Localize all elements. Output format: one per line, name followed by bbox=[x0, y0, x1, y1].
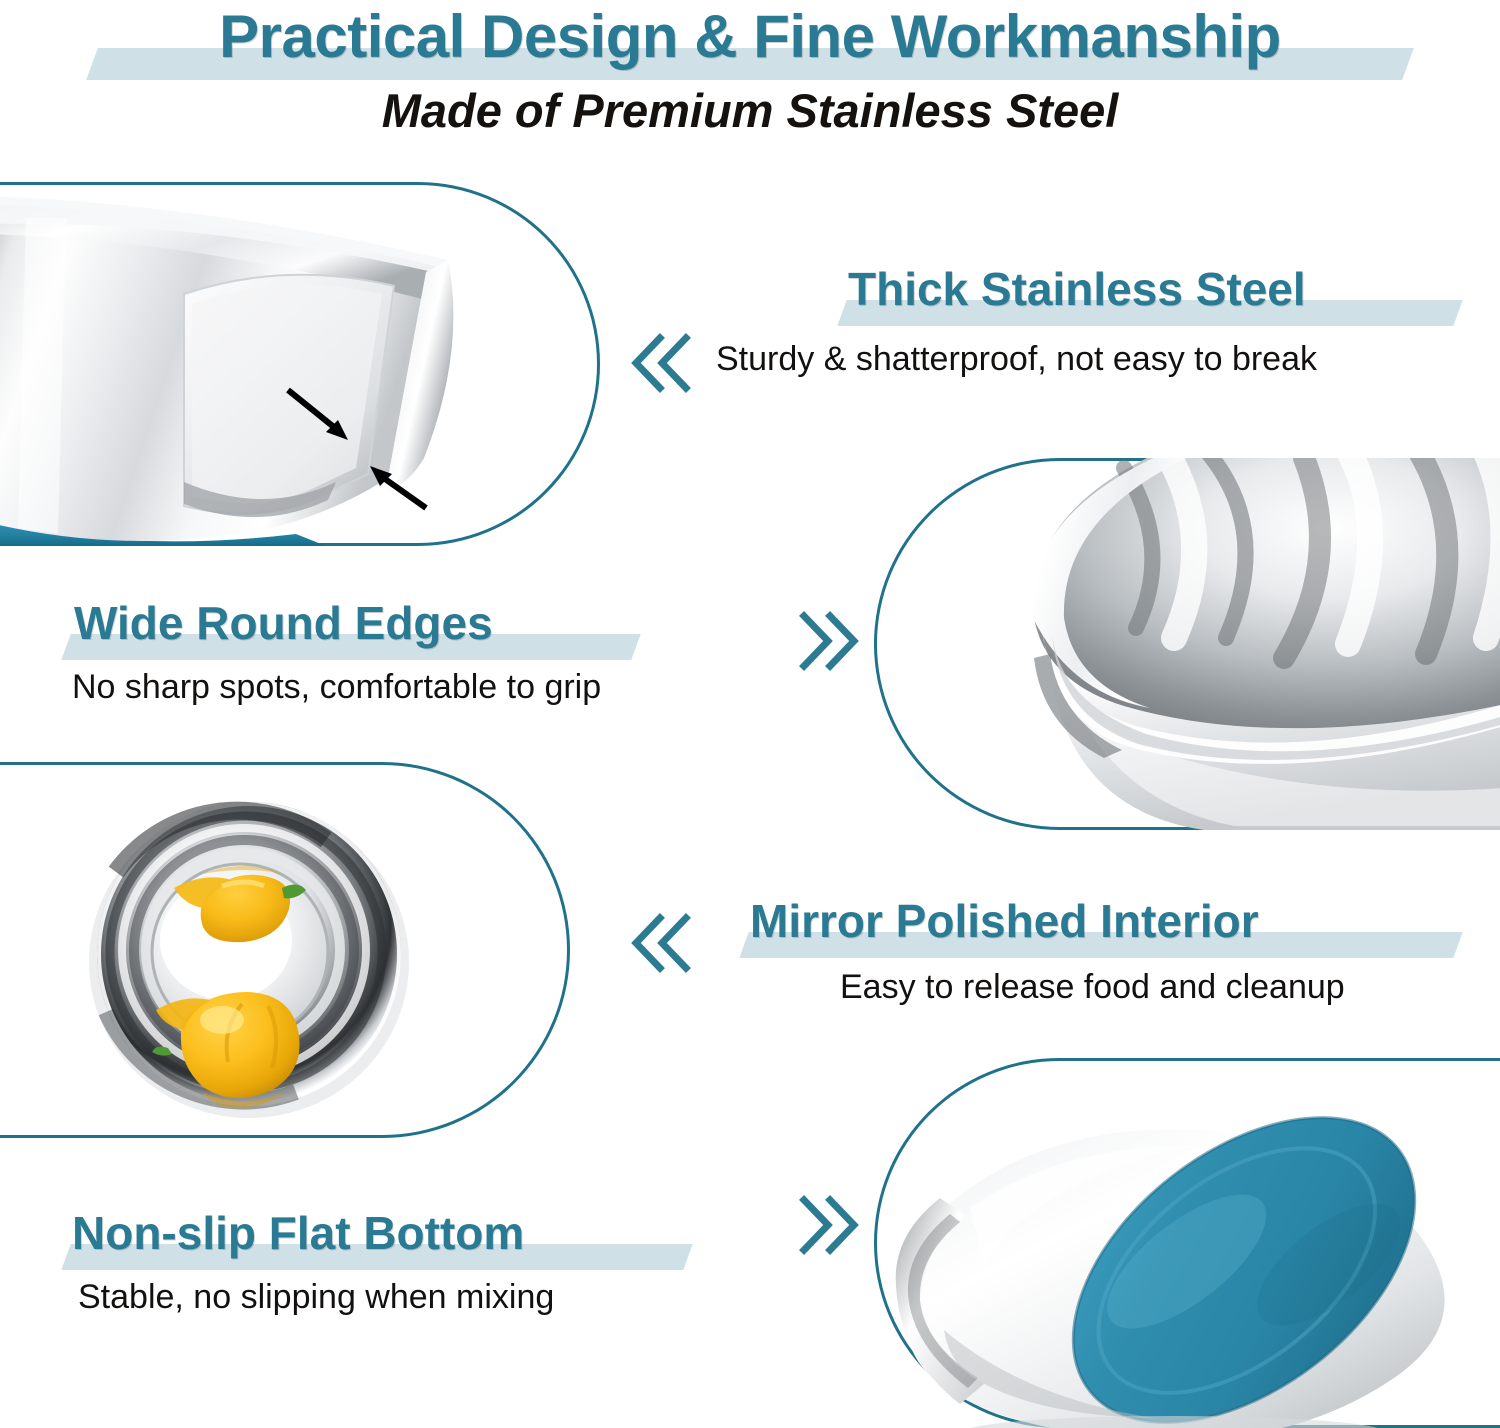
bowl-topview-svg bbox=[0, 762, 570, 1138]
bowl-with-peppers-illustration bbox=[0, 762, 570, 1138]
feature-title-non-slip-flat-bottom: Non-slip Flat Bottom bbox=[72, 1206, 524, 1260]
bowl-wall-svg bbox=[0, 182, 600, 546]
feature-image-thick-stainless-steel: 0.02 inch bbox=[0, 182, 600, 546]
feature-image-mirror-polished-interior bbox=[0, 762, 570, 1138]
feature-subtitle-mirror-polished-interior: Easy to release food and cleanup bbox=[840, 968, 1345, 1007]
feature-subtitle-wide-round-edges: No sharp spots, comfortable to grip bbox=[72, 668, 601, 707]
silicone-base-illustration bbox=[874, 1058, 1500, 1428]
feature-title-wide-round-edges: Wide Round Edges bbox=[74, 596, 493, 650]
double-chevron-right-icon-2 bbox=[798, 1192, 860, 1263]
bowl-interior-svg bbox=[874, 458, 1500, 830]
feature-image-non-slip-flat-bottom bbox=[874, 1058, 1500, 1428]
bowl-cutaway-illustration: 0.02 inch bbox=[0, 182, 600, 546]
feature-title-thick-stainless-steel: Thick Stainless Steel bbox=[848, 262, 1306, 316]
feature-subtitle-thick-stainless-steel: Sturdy & shatterproof, not easy to break bbox=[716, 340, 1317, 379]
feature-image-wide-round-edges bbox=[874, 458, 1500, 830]
double-chevron-left-icon-2 bbox=[630, 910, 692, 981]
mirror-interior-illustration bbox=[874, 458, 1500, 830]
page-subtitle: Made of Premium Stainless Steel bbox=[0, 83, 1500, 138]
feature-title-mirror-polished-interior: Mirror Polished Interior bbox=[750, 894, 1259, 948]
page-title: Practical Design & Fine Workmanship bbox=[0, 2, 1500, 71]
double-chevron-right-icon-1 bbox=[798, 608, 860, 679]
header: Practical Design & Fine Workmanship Made… bbox=[0, 0, 1500, 150]
double-chevron-left-icon-1 bbox=[630, 330, 692, 401]
feature-subtitle-non-slip-flat-bottom: Stable, no slipping when mixing bbox=[78, 1278, 554, 1317]
bowl-underside-svg bbox=[874, 1058, 1500, 1428]
